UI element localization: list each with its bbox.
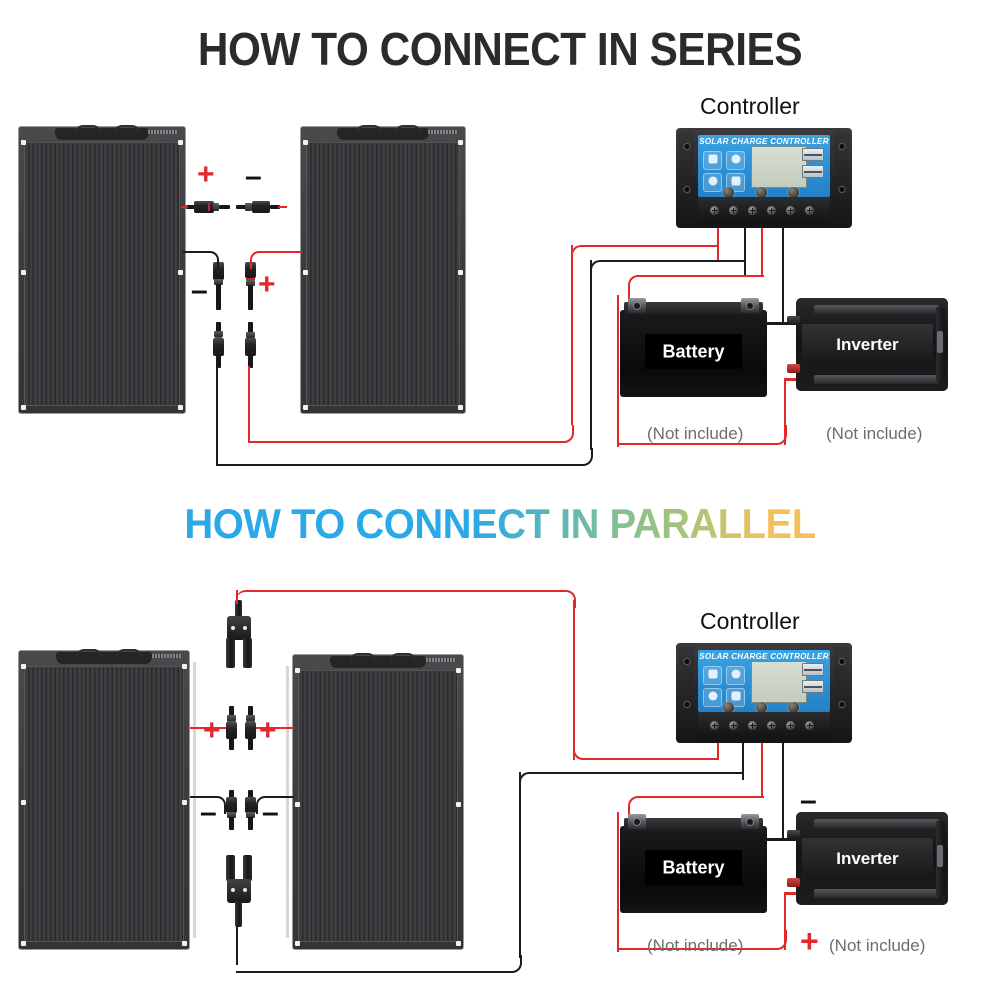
- mc4-connector-icon: [211, 322, 226, 368]
- mc4-connector-icon: [236, 200, 280, 214]
- panel-edge-strip: [286, 666, 289, 938]
- terminal-screw-icon[interactable]: [805, 721, 814, 730]
- panel-grommet: [458, 140, 463, 145]
- controller-terminal-block: [698, 712, 830, 737]
- panel-grommet: [182, 800, 187, 805]
- panel-handle-right-icon: [395, 125, 421, 133]
- panel-grommet: [303, 140, 308, 145]
- wire-series-positive-run: [248, 425, 574, 443]
- battery-label: Battery: [645, 341, 742, 362]
- terminal-screw-icon[interactable]: [748, 721, 757, 730]
- controller-mount-left: [679, 132, 694, 202]
- wire-parallel-negative-to-controller: [519, 772, 744, 790]
- inverter-label: Inverter: [802, 335, 933, 355]
- panel-grommet: [295, 668, 300, 673]
- wire-series-positive-to-controller: [571, 245, 719, 263]
- marker-plus-inverter-parallel: +: [800, 925, 819, 957]
- terminal-screw-icon[interactable]: [710, 721, 719, 730]
- wire-inverter-positive-up-parallel: [784, 894, 787, 950]
- controller-mount-right: [834, 132, 849, 202]
- usb-port-icon[interactable]: [802, 148, 824, 161]
- marker-plus-panel1-parallel: +: [203, 716, 221, 746]
- inverter-series: Inverter: [796, 298, 948, 391]
- panel-grommet: [303, 405, 308, 410]
- battery-terminal-negative: [741, 814, 759, 829]
- inverter-top-bar: [814, 819, 939, 828]
- mc4-connector-icon: [243, 322, 258, 368]
- inverter-note-series: (Not include): [826, 424, 922, 444]
- wire-controller-bat-negative: [782, 225, 785, 325]
- wire-parallel-negative-stem: [236, 925, 239, 965]
- terminal-screw-icon[interactable]: [729, 206, 738, 215]
- terminal-screw-icon[interactable]: [729, 721, 738, 730]
- panel-barcode-icon: [426, 658, 456, 662]
- inverter-note-parallel: (Not include): [829, 936, 925, 956]
- controller-faceplate: SOLAR CHARGE CONTROLLER: [698, 135, 830, 197]
- battery-terminal-negative: [741, 298, 759, 313]
- marker-plus-panel2-series: +: [258, 270, 276, 300]
- terminal-screw-icon[interactable]: [786, 206, 795, 215]
- wire-parallel-positive-to-controller: [573, 742, 719, 760]
- battery-parallel: Battery: [620, 812, 767, 913]
- lcd-display-icon: [751, 661, 807, 703]
- panel-grommet: [295, 802, 300, 807]
- wire-controller-bat-positive-parallel: [761, 740, 764, 798]
- panel-grommet: [21, 140, 26, 145]
- wire-parallel-positive-down: [573, 600, 576, 760]
- panel-cells: [298, 670, 458, 942]
- controller-mount-right: [834, 647, 849, 717]
- inverter-terminal-negative: [787, 830, 800, 839]
- battery-terminal-positive: [628, 298, 646, 313]
- controller-label-parallel: Controller: [700, 608, 800, 635]
- inverter-top-bar: [814, 305, 939, 314]
- panel-barcode-icon: [428, 130, 458, 134]
- marker-plus-panel2-parallel: +: [259, 716, 277, 746]
- panel-grommet: [456, 668, 461, 673]
- wire-series-negative-to-controller: [590, 260, 746, 278]
- wire-series-negative-run: [216, 448, 593, 466]
- panel-grommet: [178, 270, 183, 275]
- inverter-vent-icon: [937, 845, 943, 867]
- inverter-center-panel: Inverter: [802, 838, 933, 879]
- panel-grommet: [458, 405, 463, 410]
- battery-note-series: (Not include): [647, 424, 743, 444]
- wire-parallel-negative-bus: [236, 955, 522, 973]
- panel-grommet: [178, 140, 183, 145]
- controller-faceplate: SOLAR CHARGE CONTROLLER: [698, 650, 830, 712]
- solar-charge-controller-parallel[interactable]: SOLAR CHARGE CONTROLLER: [676, 643, 852, 743]
- mc4-connector-icon: [243, 790, 258, 830]
- controller-brand-text: SOLAR CHARGE CONTROLLER: [698, 652, 830, 661]
- solar-panel-2-series: [300, 126, 466, 414]
- panel-handle-left-icon: [356, 125, 382, 133]
- battery-note-parallel: (Not include): [647, 936, 743, 956]
- mc4-connector-icon: [224, 706, 239, 750]
- panel-grommet: [21, 270, 26, 275]
- inverter-vent-icon: [937, 331, 943, 353]
- panel-grommet: [21, 800, 26, 805]
- parallel-title: HOW TO CONNECT IN PARALLEL: [25, 500, 975, 548]
- inverter-terminal-positive: [787, 364, 800, 373]
- sun-mode-icon[interactable]: [726, 666, 745, 685]
- inverter-label: Inverter: [802, 849, 933, 869]
- timer-mode-icon[interactable]: [703, 688, 722, 707]
- panel-grommet: [303, 270, 308, 275]
- wire-controller-pv-negative: [744, 225, 747, 275]
- series-title: HOW TO CONNECT IN SERIES: [40, 22, 960, 76]
- usb-port-icon[interactable]: [802, 165, 824, 178]
- marker-minus-panel2-parallel: –: [262, 798, 279, 828]
- lcd-display-icon: [751, 146, 807, 188]
- solar-charge-controller-series[interactable]: SOLAR CHARGE CONTROLLER: [676, 128, 852, 228]
- panel-handle-left-icon: [76, 649, 102, 657]
- wire-series-positive-down: [248, 366, 251, 442]
- panel-cells: [24, 142, 180, 406]
- y-branch-connector-negative: [218, 855, 260, 927]
- panel-grommet: [182, 664, 187, 669]
- terminal-screw-icon[interactable]: [748, 206, 757, 215]
- panel-grommet: [178, 405, 183, 410]
- panel-mode-icon[interactable]: [703, 666, 722, 685]
- marker-minus-panel1-series: –: [245, 162, 262, 192]
- terminal-screw-icon[interactable]: [805, 206, 814, 215]
- diagram-canvas: HOW TO CONNECT IN SERIES + –: [0, 0, 1000, 1000]
- wire-controller-pv-positive-parallel: [717, 740, 720, 760]
- mc4-connector-icon: [211, 262, 226, 310]
- terminal-screw-icon[interactable]: [786, 721, 795, 730]
- mc4-connector-icon: [186, 200, 230, 214]
- inverter-bottom-bar: [814, 375, 939, 384]
- wire-jumper-right: [278, 206, 287, 209]
- timer-mode-icon[interactable]: [703, 173, 722, 192]
- battery-series: Battery: [620, 296, 767, 397]
- inverter-terminal-negative: [787, 316, 800, 325]
- wire-parallel-positive-bus: [236, 590, 576, 608]
- wire-controller-pv-positive: [717, 225, 720, 260]
- sun-mode-icon[interactable]: [726, 151, 745, 170]
- panel-handle-right-icon: [116, 649, 142, 657]
- solar-panel-2-parallel: [292, 654, 464, 950]
- terminal-screw-icon[interactable]: [767, 721, 776, 730]
- y-branch-connector-positive: [218, 600, 260, 672]
- solar-panel-1-parallel: [18, 650, 190, 950]
- panel-grommet: [456, 941, 461, 946]
- panel-grommet: [458, 270, 463, 275]
- battery-terminal-positive: [628, 814, 646, 829]
- controller-label-series: Controller: [700, 93, 800, 120]
- marker-minus-inverter-parallel: –: [800, 786, 817, 816]
- wire-bat-positive-run: [628, 275, 764, 293]
- inverter-terminal-positive: [787, 878, 800, 887]
- panel-handle-right-icon: [390, 653, 416, 661]
- battery-label: Battery: [645, 857, 742, 878]
- panel-handle-right-icon: [114, 125, 140, 133]
- panel-grommet: [21, 664, 26, 669]
- marker-minus-panel1-parallel: –: [200, 798, 217, 828]
- terminal-screw-icon[interactable]: [767, 206, 776, 215]
- controller-terminal-block: [698, 197, 830, 222]
- controller-mount-left: [679, 647, 694, 717]
- wire-parallel-negative-up: [519, 772, 522, 958]
- panel-grommet: [21, 405, 26, 410]
- panel-mode-icon[interactable]: [703, 151, 722, 170]
- panel-edge-strip: [193, 662, 196, 938]
- wire-series-negative-down: [216, 366, 219, 466]
- battery-label-plate: Battery: [645, 850, 742, 884]
- panel-grommet: [295, 941, 300, 946]
- wire-series-negative-up: [590, 260, 593, 450]
- terminal-screw-icon[interactable]: [710, 206, 719, 215]
- mc4-connector-icon: [243, 262, 258, 310]
- wire-controller-bat-negative-parallel: [782, 740, 785, 840]
- inverter-bottom-bar: [814, 889, 939, 898]
- wire-controller-bat-positive: [761, 225, 764, 277]
- solar-panel-1-series: [18, 126, 186, 414]
- panel-handle-left-icon: [350, 653, 376, 661]
- panel-grommet: [456, 802, 461, 807]
- mc4-connector-icon: [243, 706, 258, 750]
- panel-cells: [24, 666, 184, 942]
- inverter-center-panel: Inverter: [802, 324, 933, 365]
- marker-minus-left-series: –: [191, 276, 208, 306]
- mc4-connector-icon: [224, 790, 239, 830]
- panel-grommet: [21, 941, 26, 946]
- wire-inverter-positive-up: [784, 380, 787, 445]
- panel-cells: [306, 142, 460, 406]
- wire-controller-pv-negative-parallel: [742, 740, 745, 780]
- panel-barcode-icon: [152, 654, 182, 658]
- marker-plus-panel1-series: +: [197, 160, 215, 190]
- controller-brand-text: SOLAR CHARGE CONTROLLER: [698, 137, 830, 146]
- wire-panel1-positive: [181, 206, 188, 209]
- usb-port-icon[interactable]: [802, 663, 824, 676]
- battery-label-plate: Battery: [645, 334, 742, 368]
- panel-grommet: [182, 941, 187, 946]
- panel-handle-left-icon: [75, 125, 101, 133]
- inverter-parallel: Inverter: [796, 812, 948, 905]
- panel-barcode-icon: [148, 130, 178, 134]
- usb-port-icon[interactable]: [802, 680, 824, 693]
- wire-series-positive-up: [571, 245, 574, 425]
